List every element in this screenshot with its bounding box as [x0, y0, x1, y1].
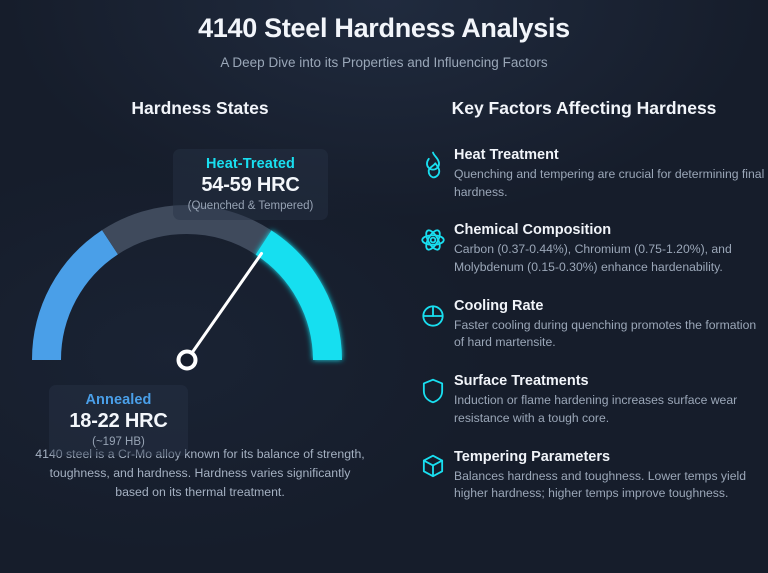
factor-item-chemical-composition: Chemical Composition Carbon (0.37-0.44%)… — [412, 222, 768, 276]
header: 4140 Steel Hardness Analysis A Deep Dive… — [0, 0, 768, 70]
factor-item-heat-treatment: Heat Treatment Quenching and tempering a… — [412, 147, 768, 201]
state-card-heat-treated: Heat-Treated 54-59 HRC (Quenched & Tempe… — [173, 149, 328, 220]
state-name: Heat-Treated — [186, 156, 315, 172]
factor-item-surface-treatments: Surface Treatments Induction or flame ha… — [412, 373, 768, 427]
page-title: 4140 Steel Hardness Analysis — [0, 13, 768, 44]
snowflake-icon — [412, 298, 454, 330]
factor-item-cooling-rate: Cooling Rate Faster cooling during quenc… — [412, 298, 768, 352]
factor-title: Chemical Composition — [454, 222, 768, 238]
gauge-segment-intermediate — [110, 220, 264, 243]
hardness-states-panel: Hardness States — [0, 98, 400, 524]
factor-item-tempering-parameters: Tempering Parameters Balances hardness a… — [412, 449, 768, 503]
factor-body: Cooling Rate Faster cooling during quenc… — [454, 298, 768, 352]
key-factors-panel: Key Factors Affecting Hardness Heat Trea… — [400, 98, 768, 524]
factor-description: Quenching and tempering are crucial for … — [454, 166, 768, 201]
factor-body: Heat Treatment Quenching and tempering a… — [454, 147, 768, 201]
factor-description: Carbon (0.37-0.44%), Chromium (0.75-1.20… — [454, 241, 768, 276]
factor-body: Surface Treatments Induction or flame ha… — [454, 373, 768, 427]
gauge-segment-annealed — [46, 242, 110, 360]
factor-description: Balances hardness and toughness. Lower t… — [454, 468, 768, 503]
factor-description: Induction or flame hardening increases s… — [454, 392, 768, 427]
state-name: Annealed — [62, 392, 175, 408]
factor-body: Chemical Composition Carbon (0.37-0.44%)… — [454, 222, 768, 276]
factor-title: Tempering Parameters — [454, 449, 768, 465]
page-subtitle: A Deep Dive into its Properties and Infl… — [0, 55, 768, 70]
infographic-page: 4140 Steel Hardness Analysis A Deep Dive… — [0, 0, 768, 573]
gauge-needle-pivot — [179, 352, 196, 369]
factor-title: Heat Treatment — [454, 147, 768, 163]
factor-body: Tempering Parameters Balances hardness a… — [454, 449, 768, 503]
atom-icon — [412, 222, 454, 254]
gauge-segment-heat-treated — [264, 243, 328, 361]
content-columns: Hardness States — [0, 98, 768, 524]
cube-icon — [412, 449, 454, 481]
state-note: (Quenched & Tempered) — [186, 200, 315, 212]
factor-title: Cooling Rate — [454, 298, 768, 314]
factor-title: Surface Treatments — [454, 373, 768, 389]
flame-icon — [412, 147, 454, 179]
hardness-states-title: Hardness States — [0, 98, 400, 119]
state-card-annealed: Annealed 18-22 HRC (~197 HB) — [49, 385, 188, 456]
gauge-needle — [187, 254, 262, 361]
state-value: 54-59 HRC — [186, 174, 315, 197]
hardness-gauge: Heat-Treated 54-59 HRC (Quenched & Tempe… — [0, 125, 400, 425]
shield-icon — [412, 373, 454, 405]
key-factors-list: Heat Treatment Quenching and tempering a… — [400, 147, 768, 503]
key-factors-title: Key Factors Affecting Hardness — [400, 98, 768, 119]
state-note: (~197 HB) — [62, 436, 175, 448]
factor-description: Faster cooling during quenching promotes… — [454, 317, 768, 352]
state-value: 18-22 HRC — [62, 410, 175, 433]
